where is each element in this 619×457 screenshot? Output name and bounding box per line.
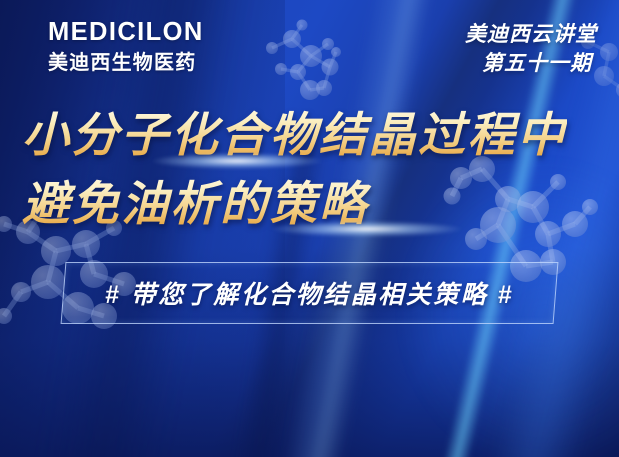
issue-number: 第五十一期 <box>465 51 592 77</box>
issue-block: 美迪西云讲堂 第五十一期 <box>465 22 597 78</box>
title-line-2: 避免油析的策略 <box>22 173 567 236</box>
webinar-poster: MEDICILON 美迪西生物医药 美迪西云讲堂 第五十一期 小分子化合物结晶过… <box>0 0 619 457</box>
main-title: 小分子化合物结晶过程中 避免油析的策略 <box>22 104 567 235</box>
brand-name-en: MEDICILON <box>48 20 204 46</box>
brand-logo: MEDICILON 美迪西生物医药 <box>48 20 204 73</box>
brand-name-cn: 美迪西生物医药 <box>48 53 204 73</box>
issue-series: 美迪西云讲堂 <box>465 22 597 48</box>
subtitle-text: # 带您了解化合物结晶相关策略 # <box>63 262 556 324</box>
title-line-1: 小分子化合物结晶过程中 <box>22 104 567 167</box>
